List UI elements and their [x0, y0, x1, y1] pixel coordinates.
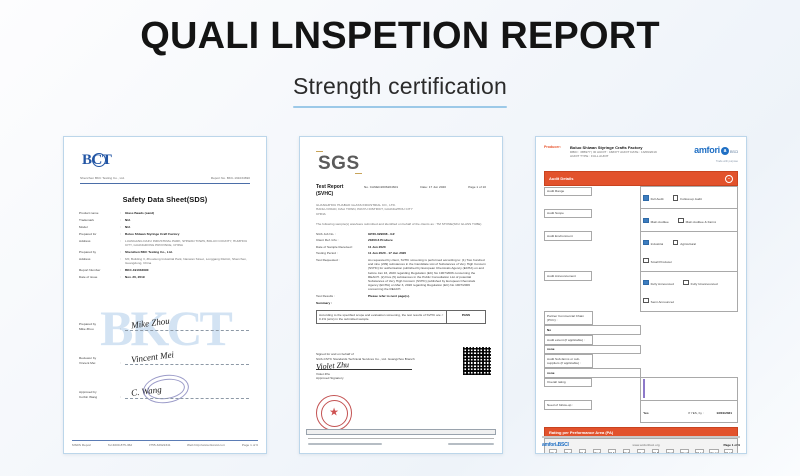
- sds-signature-scribble: Mike Zhou: [131, 316, 171, 331]
- amfori-followup-value: Yes: [643, 411, 683, 415]
- sgs-disclaimer: [306, 429, 496, 435]
- sgs-header-row: Test Report (SVHC) No. CANEC2006204601 D…: [316, 184, 486, 197]
- sgs-field-key: Testing Period :: [316, 251, 368, 255]
- amfori-producer-label: Producer:: [544, 145, 570, 159]
- sds-field-value: 6/F, Building 3, Zhoudeng Industrial Par…: [125, 257, 251, 266]
- sgs-field-row: Client Ref. Info : 20200.6 Produce: [310, 238, 492, 242]
- sgs-red-seal-icon: ★: [316, 395, 352, 431]
- sds-signature-line: [125, 330, 249, 331]
- sds-field-key: Address: [79, 257, 120, 266]
- sgs-summary-text: According to the specified scope and eva…: [317, 311, 447, 324]
- sds-field-value: Glass Beads (sand): [125, 211, 251, 215]
- bct-logo: BCT: [82, 152, 111, 169]
- sds-signature-line: [125, 364, 249, 365]
- sds-signature-row: Prepared by Mike Zhou : Mike Zhou: [79, 297, 251, 331]
- sds-header-rule: [80, 183, 250, 184]
- sgs-field-value: 20200.6 Produce: [368, 238, 486, 242]
- sds-header-row: Shenzhen BKC Testing Co., Ltd. Report No…: [80, 176, 250, 180]
- sgs-field-key: Date of Sample Received :: [316, 245, 368, 249]
- sgs-field-row: Test Requested : As requested by client,…: [310, 258, 492, 292]
- sds-footer-fax: 0755-32922341: [149, 443, 171, 447]
- sds-footer-tel: Tel:4000-875-362: [108, 443, 132, 447]
- sds-field-row: Address : 6/F, Building 3, Zhoudeng Indu…: [74, 257, 256, 266]
- amfori-footer: amforiaBSCI www.amforibsci.org Page 1 of…: [542, 436, 740, 448]
- amfori-option[interactable]: Industrial: [643, 240, 663, 246]
- amfori-brand-text: amfori: [694, 145, 720, 155]
- checkbox-icon[interactable]: [683, 280, 688, 285]
- amfori-option[interactable]: Fully Unannounced: [683, 280, 717, 286]
- sgs-logo: SGS: [318, 153, 360, 175]
- pa-label: PA 8: [652, 449, 660, 454]
- sgs-field-value: As requested by client, SVHC screening i…: [368, 258, 486, 292]
- sgs-field-row: Testing Period : 11 Jun 2020 - 17 Jun 20…: [310, 251, 492, 255]
- sgs-signatory-title: Approved Signatory: [316, 376, 412, 380]
- sgs-title: Test Report: [316, 184, 343, 190]
- amfori-row-value: No: [544, 325, 641, 335]
- amfori-option[interactable]: Small Producer: [643, 258, 672, 264]
- sgs-sample-intro: The following sample(s) was/were submitt…: [316, 222, 486, 226]
- sds-signature-person: Vincent Mei: [79, 361, 120, 365]
- amfori-row-value: none: [544, 368, 641, 378]
- sds-signature-area: Vincent Mei: [125, 335, 251, 365]
- sds-field-value: Shenzhen BKC Testing Co., Ltd.: [125, 250, 251, 254]
- amfori-footer-page: Page 1 of 9: [723, 443, 740, 447]
- checkbox-icon[interactable]: [643, 240, 648, 245]
- pa-label: PA 5: [608, 449, 616, 454]
- amfori-row-label: Audit Announcement: [544, 271, 592, 281]
- sgs-field-value: Please refer to next page(s).: [368, 294, 486, 298]
- sgs-field-key: SGS Job No. :: [316, 232, 368, 236]
- sds-signature-area: Mike Zhou: [125, 301, 251, 331]
- sds-field-key: Prepared for: [79, 232, 120, 236]
- sds-signature-row: Approved by Corbin Wang : C. Wang: [79, 365, 251, 399]
- certificates-row: BCT Shenzhen BKC Testing Co., Ltd. Repor…: [0, 136, 800, 458]
- amfori-bsci-text: BSCI: [730, 149, 738, 154]
- sgs-summary-label-wrap: Summary :: [310, 301, 492, 305]
- sgs-summary-result: PASS: [447, 311, 485, 324]
- sgs-client-line: CHINA: [316, 212, 486, 216]
- amfori-page: Producer: Boluo Shiwan Styringe Crafts F…: [536, 137, 746, 453]
- checkbox-icon[interactable]: [673, 195, 678, 200]
- sgs-sample-intro-wrap: The following sample(s) was/were submitt…: [310, 222, 492, 226]
- star-icon: ★: [329, 408, 339, 419]
- sgs-signature-area: Violet Zhu Violet Zhu Approved Signatory: [316, 359, 412, 380]
- sgs-field-key: Test Results :: [316, 294, 368, 298]
- amfori-option[interactable]: Agricultural: [673, 240, 696, 246]
- sds-field-key: Report Number: [79, 268, 120, 272]
- amfori-dot-icon: a: [721, 147, 729, 155]
- sds-signature-person: Mike Zhou: [79, 327, 120, 331]
- amfori-row-value: none: [544, 345, 641, 355]
- table-row: Audit Range Full Audit Follow-up Audit: [544, 187, 738, 209]
- sds-footer-page: Page 1 of 6: [242, 443, 258, 447]
- footer-divider: [542, 436, 740, 438]
- checkbox-icon[interactable]: [643, 218, 648, 223]
- certification-poster: QUALI LNSPETION REPORT Strength certific…: [0, 0, 800, 476]
- sds-signature-line: [125, 398, 249, 399]
- table-row: Overall rating: [544, 378, 738, 400]
- certificate-card-sgs[interactable]: SGS Test Report (SVHC) No. CANEC20062046…: [299, 136, 503, 454]
- poster-header: QUALI LNSPETION REPORT Strength certific…: [0, 0, 800, 130]
- table-row: Audit Announcement Fully Announced Fully…: [544, 271, 738, 311]
- sds-field-key: Prepared by: [79, 250, 120, 254]
- sds-field-row: Report Number : BKC-191034690: [74, 268, 256, 272]
- amfori-row-label: Audit Sub-farms or sub-suppliers (if app…: [544, 354, 593, 368]
- pa-label: PA 6: [623, 449, 631, 454]
- sds-header-reportno: Report No. BKC-191034690: [211, 176, 250, 180]
- amfori-option[interactable]: Follow-up Audit: [673, 195, 702, 201]
- sds-field-row: Date of issue : Nov. 26, 2019: [74, 275, 256, 279]
- amfori-option[interactable]: Semi Announced: [643, 298, 674, 304]
- sds-page: BCT Shenzhen BKC Testing Co., Ltd. Repor…: [64, 137, 266, 453]
- sds-field-key: Model: [79, 225, 120, 229]
- sgs-field-value: 11 Jun 2020 - 17 Jun 2020: [368, 251, 486, 255]
- collapse-icon[interactable]: −: [725, 175, 733, 183]
- sds-field-row: Address : LUANGANG DAFU INDUSTRIAL PARK,…: [74, 239, 256, 248]
- amfori-option[interactable]: Fully Announced: [643, 280, 674, 286]
- amfori-producer-meta: AUDIT TYPE : FULL AUDIT: [570, 154, 694, 158]
- sds-field-key: Address: [79, 239, 120, 248]
- amfori-section-header: Audit Details −: [544, 171, 738, 186]
- pa-label: PA 2: [564, 449, 572, 454]
- sgs-summary-label: Summary :: [316, 301, 486, 305]
- subtitle-underline: [293, 106, 507, 108]
- amfori-section-title: Audit Details: [549, 176, 573, 181]
- sds-title: Safety Data Sheet(SDS): [74, 195, 256, 204]
- page-title: QUALI LNSPETION REPORT: [0, 0, 800, 57]
- sgs-field-key: Client Ref. Info :: [316, 238, 368, 242]
- sds-field-key: Product name: [79, 211, 120, 215]
- pa-label: PA 12: [709, 449, 718, 454]
- sds-field-row: Prepared by : Shenzhen BKC Testing Co., …: [74, 250, 256, 254]
- pa-label: PA 3: [579, 449, 587, 454]
- sds-field-value: LUANGANG DAFU INDUSTRIAL PARK, SHIWAN TO…: [125, 239, 251, 248]
- amfori-followup-label: Need of follow-up :: [544, 400, 592, 410]
- amfori-row-label: Audit Environment: [544, 231, 592, 241]
- page-subtitle: Strength certification: [293, 73, 507, 106]
- sgs-report-no: No. CANEC2006204601: [364, 185, 398, 189]
- amfori-header: Producer: Boluo Shiwan Styringe Crafts F…: [540, 142, 742, 167]
- amfori-row-label: Audit Scope: [544, 209, 592, 219]
- amfori-logo: amforiaBSCI Trade with purpose: [694, 145, 738, 167]
- sds-footer-web: Web:http://www.bkcstd.com: [187, 443, 225, 447]
- certificate-card-sds[interactable]: BCT Shenzhen BKC Testing Co., Ltd. Repor…: [63, 136, 267, 454]
- sgs-footer: [308, 438, 494, 447]
- checkbox-icon[interactable]: [643, 298, 648, 303]
- amfori-row-label: Audit Range: [544, 187, 592, 197]
- sds-field-value: BKC-191034690: [125, 268, 251, 272]
- sds-signature-block: Prepared by Mike Zhou : Mike Zhou Review…: [74, 297, 256, 399]
- table-row: Audit extent (if applicable) : none: [544, 335, 738, 354]
- checkbox-icon[interactable]: [643, 195, 648, 200]
- checkbox-icon[interactable]: [643, 280, 648, 285]
- sgs-field-row: Date of Sample Received : 11 Jun 2020: [310, 245, 492, 249]
- sds-company-stamp-icon: [141, 372, 190, 406]
- sds-footer-left: MSDS Report: [72, 443, 91, 447]
- sgs-fields: SGS Job No. : GP20-029608 - GZ Client Re…: [310, 232, 492, 299]
- sgs-client-block: GUANGZHOU HUABAO GLASS INDUSTRIAL CO., L…: [310, 203, 492, 216]
- amfori-row-label: Partner Commercial Chain (PCC) :: [544, 311, 593, 325]
- sds-signature-area: C. Wang: [125, 369, 251, 399]
- sds-field-value: Boluo Shiwan Styringe Craft Factory: [125, 232, 251, 236]
- sds-signature-person: Corbin Wang: [79, 395, 120, 399]
- amfori-row-label: Audit extent (if applicable) :: [544, 335, 593, 345]
- amfori-details-table: Audit Range Full Audit Follow-up Audit A…: [544, 186, 738, 423]
- pa-label: PA 11: [695, 449, 704, 454]
- sds-field-row: Trademark : N/A: [74, 218, 256, 222]
- sgs-field-row: Test Results : Please refer to next page…: [310, 294, 492, 298]
- certificate-card-amfori[interactable]: Producer: Boluo Shiwan Styringe Crafts F…: [535, 136, 747, 454]
- checkbox-icon[interactable]: [678, 218, 683, 223]
- sds-field-value: N/A: [125, 218, 251, 222]
- sgs-field-key: Test Requested :: [316, 258, 368, 292]
- checkbox-icon[interactable]: [673, 240, 678, 245]
- pa-label: PA 7: [637, 449, 645, 454]
- amfori-tagline: Trade with purpose: [694, 157, 738, 167]
- pa-label: PA 9: [666, 449, 674, 454]
- sgs-field-value: 11 Jun 2020: [368, 245, 486, 249]
- table-row: Partner Commercial Chain (PCC) : No: [544, 311, 738, 335]
- sgs-subtitle: (SVHC): [316, 191, 333, 197]
- checkbox-icon[interactable]: [643, 258, 648, 263]
- sds-field-value: N/A: [125, 225, 251, 229]
- table-row: Audit Environment Industrial Agricultura…: [544, 231, 738, 271]
- sds-field-row: Model : N/A: [74, 225, 256, 229]
- amfori-overall-label: Overall rating: [544, 378, 592, 388]
- sds-field-value: Nov. 26, 2019: [125, 275, 251, 279]
- pa-label: PA 13: [724, 449, 733, 454]
- amfori-footer-web[interactable]: www.amforibsci.org: [632, 443, 659, 447]
- amfori-option[interactable]: Full Audit: [643, 195, 663, 201]
- subtitle-wrap: Strength certification: [293, 73, 507, 108]
- sgs-page: Page 1 of 10: [468, 185, 486, 189]
- sgs-field-row: SGS Job No. : GP20-029608 - GZ: [310, 232, 492, 236]
- sds-field-key: Date of issue: [79, 275, 120, 279]
- sds-header-company: Shenzhen BKC Testing Co., Ltd.: [80, 176, 125, 180]
- qr-code-icon: [462, 346, 492, 376]
- pa-label: PA 4: [593, 449, 601, 454]
- sds-signature-scribble: Vincent Mei: [131, 349, 175, 364]
- pa-label: PA 1: [549, 449, 557, 454]
- table-row: Audit Scope Main Auditee Main Auditee & …: [544, 209, 738, 231]
- amfori-footer-logo: amforiaBSCI: [542, 442, 569, 448]
- pa-label: PA 10: [680, 449, 689, 454]
- table-row: Audit Sub-farms or sub-suppliers (if app…: [544, 354, 738, 378]
- sds-field-key: Trademark: [79, 218, 120, 222]
- overall-rating-bar: [643, 379, 645, 398]
- sgs-date: Date: 17 Jun 2020: [420, 185, 446, 189]
- amfori-option[interactable]: Main Auditee & Farms: [678, 218, 716, 224]
- sgs-summary-box: According to the specified scope and eva…: [316, 310, 486, 325]
- sgs-field-value: GP20-029608 - GZ: [368, 232, 486, 236]
- table-row: Need of follow-up : Yes If YES, by : 13/…: [544, 400, 738, 422]
- bct-logo-ring-icon: [92, 153, 106, 167]
- amfori-deadline-label: If YES, by :: [688, 411, 712, 415]
- amfori-option[interactable]: Main Auditee: [643, 218, 669, 224]
- sds-signature-row: Reviewer by Vincent Mei : Vincent Mei: [79, 331, 251, 365]
- amfori-deadline-value: 13/01/2021: [716, 411, 732, 415]
- sds-field-row: Product name : Glass Beads (sand): [74, 211, 256, 215]
- sgs-page: SGS Test Report (SVHC) No. CANEC20062046…: [300, 137, 502, 453]
- sds-field-row: Prepared for : Boluo Shiwan Styringe Cra…: [74, 232, 256, 236]
- sds-footer: MSDS Report Tel:4000-875-362 0755-329223…: [72, 440, 258, 447]
